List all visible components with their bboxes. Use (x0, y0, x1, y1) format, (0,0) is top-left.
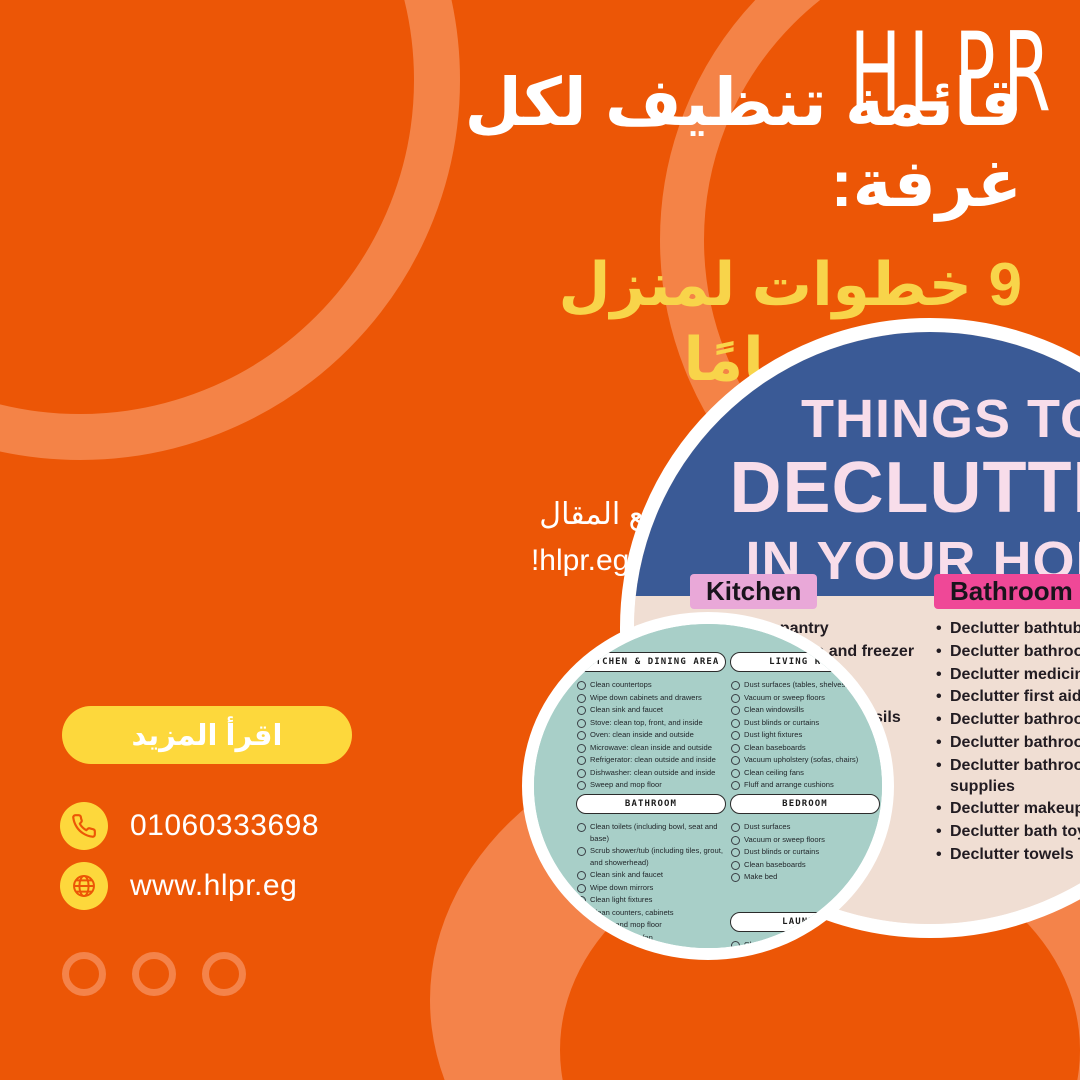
checklist-kitchen-title: KITCHEN & DINING AREA (576, 652, 726, 672)
declutter-banner: THINGS TO DECLUTTER IN YOUR HOME (620, 318, 1080, 596)
list-item: Vacuum upholstery (sofas, chairs) (730, 754, 880, 766)
list-item: Vacuum or sweep floors (730, 834, 880, 846)
list-item: Clean light fixtures (576, 894, 726, 906)
checklist-bathroom-title: BATHROOM (576, 794, 726, 814)
list-item: Dust blinds or curtains (730, 846, 880, 858)
checklist-bathroom-items: Clean toilets (including bowl, seat and … (576, 821, 726, 960)
list-item: Clean washer and dryer (730, 939, 880, 951)
list-item: Declutter makeup (950, 799, 1080, 820)
list-item: Clean baseboards (730, 859, 880, 871)
list-item: Clean sink and faucet (576, 869, 726, 881)
list-item: Dust light fixtures (730, 729, 880, 741)
contact-website-row[interactable]: www.hlpr.eg (60, 862, 297, 910)
decorative-ring-left (0, 0, 460, 460)
list-item: Clean ceiling fans (730, 767, 880, 779)
decorative-dots (62, 952, 246, 996)
list-item: Stove: clean top, front, and inside (576, 717, 726, 729)
checklist-bedroom-items: Dust surfacesVacuum or sweep floorsDust … (730, 821, 880, 883)
checklist-living-items: Dust surfaces (tables, shelves, etc.)Vac… (730, 679, 880, 791)
list-item: Vacuum or sweep floors (730, 692, 880, 704)
list-item: Dust surfaces (tables, shelves, etc.) (730, 679, 880, 691)
checklist-laundry-title: LAUNDRY (730, 912, 880, 932)
photo-bathroom-section: Bathroom Declutter bathtub/showerDeclutt… (934, 574, 1080, 868)
list-item: Declutter bathroom cabinets (950, 733, 1080, 754)
list-item: Clean walls and baseboards (576, 944, 726, 956)
checklist-bathroom-section: BATHROOM Clean toilets (including bowl, … (576, 794, 726, 960)
checklist-kitchen-items: Clean countertopsWipe down cabinets and … (576, 679, 726, 791)
photo-kitchen-title: Kitchen (690, 574, 817, 609)
phone-icon (60, 802, 108, 850)
list-item: Make bed (730, 871, 880, 883)
list-item: Sweep and mop floor (576, 779, 726, 791)
photo-bathroom-title: Bathroom (934, 574, 1080, 609)
list-item: Vacuum or sweep floors (730, 952, 880, 960)
dot-1 (202, 952, 246, 996)
read-more-button[interactable]: اقرأ المزيد (62, 706, 352, 764)
photo-bathroom-list: Declutter bathtub/showerDeclutter bathro… (934, 619, 1080, 866)
list-item: Empty trash can (576, 957, 726, 960)
dot-3 (62, 952, 106, 996)
checklist-living-title: LIVING ROOM (730, 652, 880, 672)
list-item: Oven: clean inside and outside (576, 729, 726, 741)
list-item: Scrub shower/tub (including tiles, grout… (576, 845, 726, 868)
list-item: Declutter bathtub/shower (950, 619, 1080, 640)
list-item: Declutter towels (950, 845, 1080, 866)
checklist-laundry-items: Clean washer and dryerVacuum or sweep fl… (730, 939, 880, 960)
list-item: Wipe down cabinets and drawers (576, 692, 726, 704)
checklist-bedroom-section: BEDROOM Dust surfacesVacuum or sweep flo… (730, 794, 880, 884)
list-item: Dust blinds or curtains (730, 717, 880, 729)
list-item: Declutter bath toys (950, 822, 1080, 843)
list-item: Dishwasher: clean outside and inside (576, 767, 726, 779)
list-item: Wipe down mirrors (576, 882, 726, 894)
banner-line-2: DECLUTTER (730, 452, 1080, 524)
list-item: Clean counters, cabinets (576, 907, 726, 919)
checklist-bedroom-title: BEDROOM (730, 794, 880, 814)
checklist-living-section: LIVING ROOM Dust surfaces (tables, shelv… (730, 652, 880, 792)
list-item: Declutter bathroom cleaning supplies (950, 756, 1080, 798)
list-item: Sweep and mop floor (576, 919, 726, 931)
list-item: Declutter first aid kit (950, 687, 1080, 708)
list-item: Dust surfaces (730, 821, 880, 833)
website-url: www.hlpr.eg (130, 869, 297, 903)
list-item: Declutter bathroom countertops (950, 642, 1080, 663)
list-item: Check exhaust fan (576, 932, 726, 944)
checklist-card-background: KITCHEN & DINING AREA Clean countertopsW… (534, 624, 882, 948)
list-item: Clean baseboards (730, 742, 880, 754)
list-item: Refrigerator: clean outside and inside (576, 754, 726, 766)
list-item: Declutter bathroom drawers (950, 710, 1080, 731)
list-item: Fluff and arrange cushions (730, 779, 880, 791)
list-item: Clean countertops (576, 679, 726, 691)
list-item: Microwave: clean inside and outside (576, 742, 726, 754)
social-post-canvas: HLPR قائمة تنظيف لكل غرفة: 9 خطوات لمنزل… (0, 0, 1080, 1080)
globe-icon (60, 862, 108, 910)
phone-number: 01060333698 (130, 809, 319, 843)
banner-line-1: THINGS TO (801, 392, 1080, 446)
list-item: Clean toilets (including bowl, seat and … (576, 821, 726, 844)
contact-phone-row[interactable]: 01060333698 (60, 802, 319, 850)
headline-primary: قائمة تنظيف لكل غرفة: (442, 62, 1022, 223)
room-checklist-card: KITCHEN & DINING AREA Clean countertopsW… (522, 612, 894, 960)
list-item: Clean windowsills (730, 704, 880, 716)
dot-2 (132, 952, 176, 996)
list-item: Declutter medicine cabinet (950, 665, 1080, 686)
list-item: Clean sink and faucet (576, 704, 726, 716)
checklist-kitchen-section: KITCHEN & DINING AREA Clean countertopsW… (576, 652, 726, 792)
checklist-laundry-section: LAUNDRY Clean washer and dryerVacuum or … (730, 912, 880, 960)
